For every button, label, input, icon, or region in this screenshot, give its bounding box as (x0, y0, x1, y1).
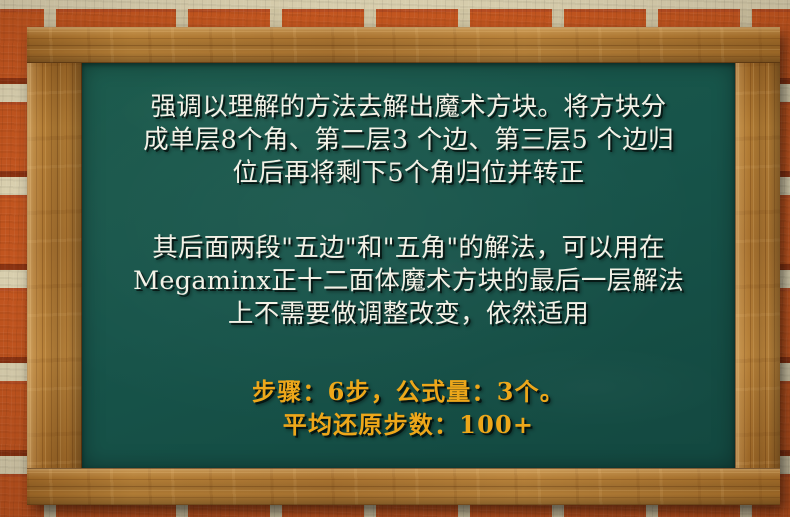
paragraph-1-line-2: 成单层8个角、第二层3 个边、第三层5 个边归 (100, 124, 717, 157)
board-text-container: 强调以理解的方法去解出魔术方块。将方块分 成单层8个角、第二层3 个边、第三层5… (82, 63, 735, 468)
paragraph-method-overview: 强调以理解的方法去解出魔术方块。将方块分 成单层8个角、第二层3 个边、第三层5… (100, 91, 717, 190)
frame-stile-left (27, 63, 82, 468)
summary-stats: 步骤：6步，公式量：3个。 平均还原步数：100+ (100, 375, 717, 441)
summary-steps-formulas: 步骤：6步，公式量：3个。 (100, 375, 717, 408)
paragraph-2-line-1: 其后面两段"五边"和"五角"的解法，可以用在 (100, 232, 717, 265)
frame-rail-top (27, 27, 780, 63)
paragraph-2-line-2: Megaminx正十二面体魔术方块的最后一层解法 (100, 265, 717, 298)
paragraph-megaminx-note: 其后面两段"五边"和"五角"的解法，可以用在 Megaminx正十二面体魔术方块… (100, 232, 717, 331)
paragraph-1-line-1: 强调以理解的方法去解出魔术方块。将方块分 (100, 91, 717, 124)
frame-seam-right (735, 63, 736, 468)
frame-seam-bottom (27, 468, 780, 469)
chalkboard-surface: 强调以理解的方法去解出魔术方块。将方块分 成单层8个角、第二层3 个边、第三层5… (82, 63, 735, 468)
frame-stile-right (735, 63, 780, 468)
summary-average-moves: 平均还原步数：100+ (100, 408, 717, 441)
chalkboard-scene: 强调以理解的方法去解出魔术方块。将方块分 成单层8个角、第二层3 个边、第三层5… (0, 0, 790, 517)
paragraph-1-line-3: 位后再将剩下5个角归位并转正 (100, 157, 717, 190)
paragraph-2-line-3: 上不需要做调整改变，依然适用 (100, 298, 717, 331)
frame-rail-bottom (27, 468, 780, 505)
